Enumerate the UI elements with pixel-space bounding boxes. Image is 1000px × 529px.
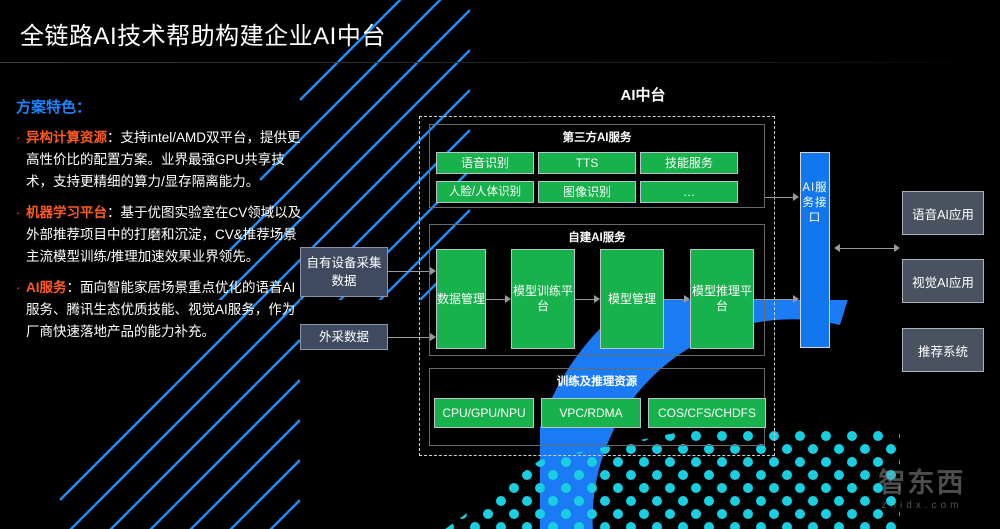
- tile-speech-recognition[interactable]: 语音识别: [436, 152, 534, 174]
- connector-arrow-icon: [594, 295, 600, 303]
- tile-model-inference-platform[interactable]: 模型推理平台: [690, 249, 754, 349]
- feature-title: 异构计算资源: [26, 130, 107, 145]
- tile-image-recognition[interactable]: 图像识别: [538, 181, 636, 203]
- feature-list: 方案特色： · 异构计算资源：支持intel/AMD双平台，提供更高性价比的配置…: [16, 96, 308, 352]
- app-vision-ai[interactable]: 视觉AI应用: [902, 259, 984, 303]
- feature-title: 机器学习平台: [26, 205, 107, 220]
- connector-arrow-icon: [793, 295, 799, 303]
- watermark-url: zhidx.com: [852, 500, 992, 511]
- tile-cpu-gpu-npu[interactable]: CPU/GPU/NPU: [434, 398, 534, 428]
- data-source-purchased: 外采数据: [300, 324, 388, 350]
- connector-arrow-left-icon: [834, 244, 840, 252]
- connector-selfbuilt-to-api: [754, 299, 795, 300]
- connector-mgmt-to-infer: [664, 299, 684, 300]
- diagram-title: AI中台: [600, 84, 686, 105]
- tile-data-management[interactable]: 数据管理: [436, 249, 486, 349]
- connector-api-to-apps: [840, 248, 894, 249]
- feature-text: AI服务：面向智能家居场景重点优化的语音AI服务、腾讯生态优质技能、视觉AI服务…: [26, 277, 308, 343]
- watermark-logo: 智东西: [860, 466, 984, 500]
- feature-title: AI服务: [26, 280, 67, 295]
- ai-service-interface-bar[interactable]: AI服务接口: [800, 152, 830, 348]
- tile-model-training-platform[interactable]: 模型训练平台: [511, 249, 575, 349]
- page-title: 全链路AI技术帮助构建企业AI中台: [20, 16, 386, 51]
- tile-tts[interactable]: TTS: [538, 152, 636, 174]
- connector-arrow-icon: [684, 295, 690, 303]
- connector-arrow-right-icon: [894, 244, 900, 252]
- slide-canvas: 全链路AI技术帮助构建企业AI中台 方案特色： · 异构计算资源：支持intel…: [0, 0, 1000, 529]
- connector-train-to-mgmt: [575, 299, 594, 300]
- connector-arrow-icon: [793, 193, 799, 201]
- data-source-own-devices: 自有设备采集数据: [300, 247, 388, 297]
- tile-skill-service[interactable]: 技能服务: [640, 152, 738, 174]
- tile-vpc-rdma[interactable]: VPC/RDMA: [541, 398, 641, 428]
- feature-body: ：面向智能家居场景重点优化的语音AI服务、腾讯生态优质技能、视觉AI服务，作为厂…: [26, 280, 295, 339]
- feature-item-ml-platform: · 机器学习平台：基于优图实验室在CV领域以及外部推荐项目中的打磨和沉淀，CV&…: [16, 202, 308, 268]
- panel-title: 第三方AI服务: [430, 129, 764, 145]
- bullet-icon: ·: [16, 127, 26, 193]
- panel-title: 自建AI服务: [430, 229, 764, 245]
- tile-more-ellipsis[interactable]: …: [640, 181, 738, 203]
- feature-text: 异构计算资源：支持intel/AMD双平台，提供更高性价比的配置方案。业界最强G…: [26, 127, 308, 193]
- tile-model-management[interactable]: 模型管理: [600, 249, 664, 349]
- feature-list-heading: 方案特色：: [16, 96, 308, 117]
- feature-text: 机器学习平台：基于优图实验室在CV领域以及外部推荐项目中的打磨和沉淀，CV&推荐…: [26, 202, 308, 268]
- bullet-icon: ·: [16, 277, 26, 343]
- app-voice-ai[interactable]: 语音AI应用: [902, 191, 984, 235]
- feature-item-ai-service: · AI服务：面向智能家居场景重点优化的语音AI服务、腾讯生态优质技能、视觉AI…: [16, 277, 308, 343]
- title-divider: [0, 62, 1000, 63]
- app-recommendation-system[interactable]: 推荐系统: [902, 328, 984, 372]
- watermark: 智东西 zhidx.com: [852, 466, 992, 522]
- tile-face-body-recognition[interactable]: 人脸/人体识别: [436, 181, 534, 203]
- connector-thirdparty-to-api: [765, 197, 795, 198]
- connector-data-to-train: [486, 299, 505, 300]
- bullet-icon: ·: [16, 202, 26, 268]
- tile-cos-cfs-chdfs[interactable]: COS/CFS/CHDFS: [648, 398, 766, 428]
- panel-title: 训练及推理资源: [430, 373, 764, 389]
- connector-arrow-icon: [505, 295, 511, 303]
- feature-item-heterogeneous-compute: · 异构计算资源：支持intel/AMD双平台，提供更高性价比的配置方案。业界最…: [16, 127, 308, 193]
